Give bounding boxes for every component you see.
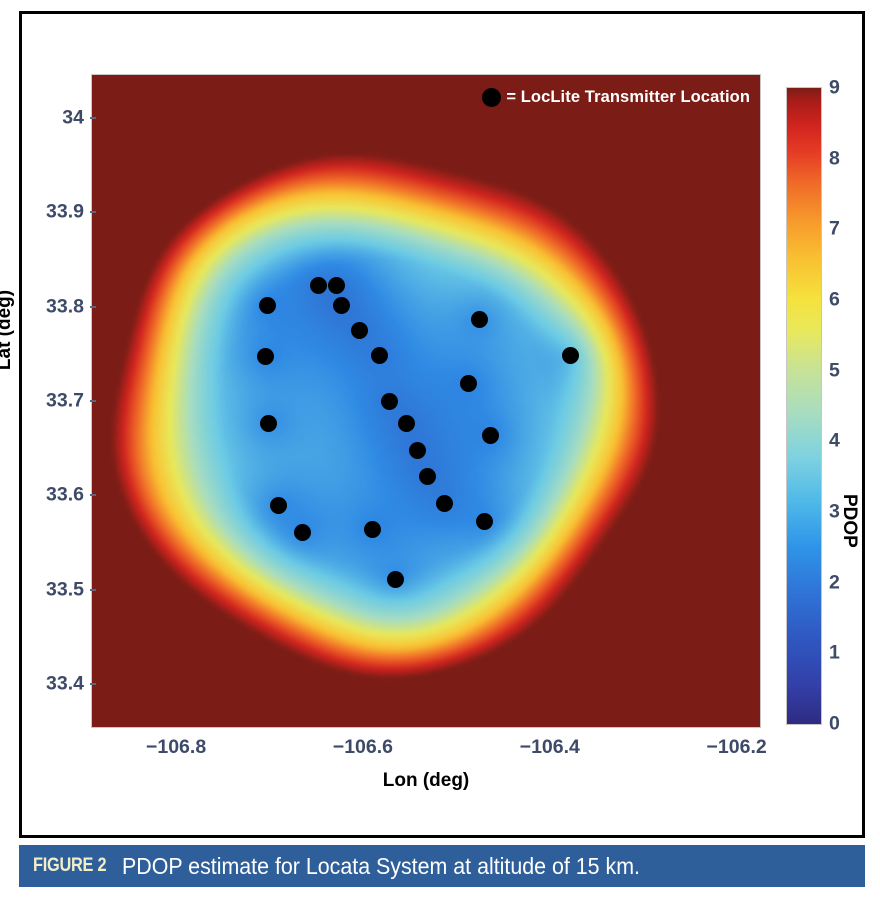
colorbar-tick-label: 9 — [829, 77, 840, 100]
y-tick-mark — [90, 211, 96, 213]
figure-root: = LocLite Transmitter Location 33.433.53… — [0, 0, 880, 914]
colorbar-tick-label: 8 — [829, 147, 840, 170]
transmitter-dot — [562, 347, 579, 364]
y-tick-mark — [90, 589, 96, 591]
transmitter-dot — [409, 442, 426, 459]
y-tick-mark — [90, 683, 96, 685]
legend-marker-icon — [482, 88, 501, 107]
transmitter-dot — [333, 297, 350, 314]
transmitter-dot — [482, 427, 499, 444]
heatmap-canvas — [92, 75, 760, 727]
colorbar-tick-label: 5 — [829, 359, 840, 382]
y-tick-label: 34 — [24, 106, 84, 129]
colorbar-tick-label: 3 — [829, 501, 840, 524]
y-axis-ticks: 33.433.533.633.733.833.934 — [12, 75, 84, 727]
y-tick-label: 33.6 — [24, 484, 84, 507]
transmitter-dot — [364, 521, 381, 538]
transmitter-dot — [351, 322, 368, 339]
colorbar-tick-label: 6 — [829, 289, 840, 312]
x-tick-label: −106.8 — [116, 736, 236, 759]
x-tick-label: −106.6 — [303, 736, 423, 759]
transmitter-dot — [310, 277, 327, 294]
transmitter-dot — [381, 393, 398, 410]
colorbar-tick-label: 4 — [829, 430, 840, 453]
plot-wrapper: = LocLite Transmitter Location 33.433.53… — [0, 0, 880, 838]
x-axis-label: Lon (deg) — [92, 770, 760, 792]
figure-number-tag: FIGURE 2 — [33, 855, 106, 877]
colorbar-tick-label: 2 — [829, 571, 840, 594]
x-tick-label: −106.4 — [490, 736, 610, 759]
transmitter-dot — [419, 468, 436, 485]
figure-caption-bar: FIGURE 2 PDOP estimate for Locata System… — [19, 845, 865, 887]
colorbar: PDOP 0123456789 — [787, 88, 821, 724]
transmitter-dot — [294, 524, 311, 541]
transmitter-dot — [476, 513, 493, 530]
y-tick-label: 33.9 — [24, 201, 84, 224]
x-tick-label: −106.2 — [677, 736, 797, 759]
colorbar-tick-label: 7 — [829, 218, 840, 241]
colorbar-label: PDOP — [838, 494, 860, 548]
colorbar-gradient — [787, 88, 821, 724]
y-tick-mark — [90, 400, 96, 402]
y-tick-label: 33.4 — [24, 673, 84, 696]
y-tick-label: 33.8 — [24, 295, 84, 318]
pdop-heatmap-plot[interactable]: = LocLite Transmitter Location — [92, 75, 760, 727]
legend-label: = LocLite Transmitter Location — [506, 88, 750, 107]
colorbar-tick-label: 0 — [829, 713, 840, 736]
transmitter-dot — [436, 495, 453, 512]
figure-caption-text: PDOP estimate for Locata System at altit… — [122, 853, 640, 880]
colorbar-tick-label: 1 — [829, 642, 840, 665]
x-axis-ticks: −106.8−106.6−106.4−106.2 — [92, 736, 760, 766]
legend: = LocLite Transmitter Location — [476, 85, 754, 110]
y-tick-label: 33.5 — [24, 578, 84, 601]
y-tick-mark — [90, 117, 96, 119]
y-tick-mark — [90, 306, 96, 308]
y-tick-mark — [90, 494, 96, 496]
y-tick-label: 33.7 — [24, 390, 84, 413]
y-axis-label: Lat (deg) — [0, 290, 16, 370]
